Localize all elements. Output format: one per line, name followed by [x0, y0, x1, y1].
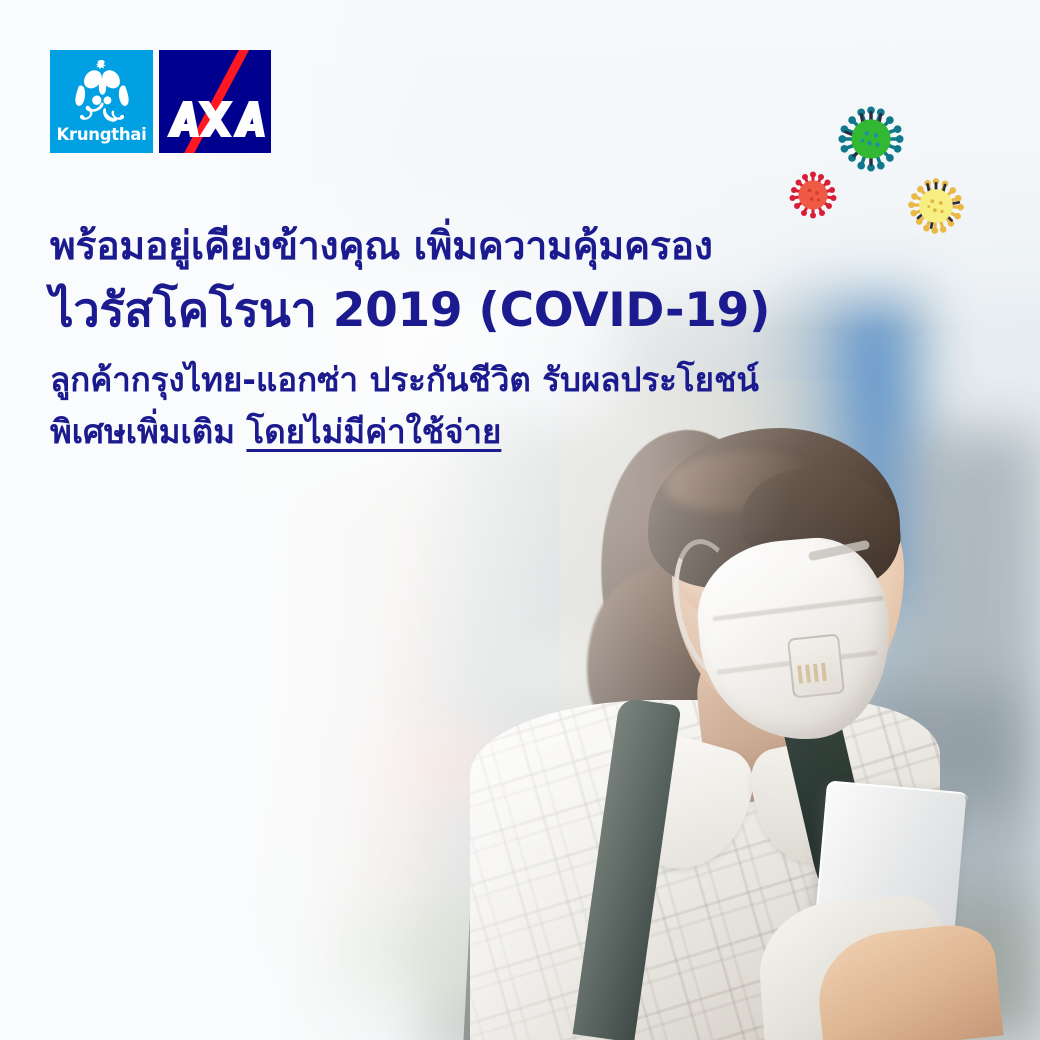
body-line-2-prefix: พิเศษเพิ่มเติม [50, 412, 246, 451]
banner-canvas: Krungthai [0, 0, 1040, 1040]
krungthai-logo[interactable]: Krungthai [50, 50, 153, 153]
virus-yellow-icon [906, 176, 966, 240]
axa-wordmark-icon [165, 97, 265, 147]
headline-line-1: พร้อมอยู่เคียงข้างคุณ เพิ่มความคุ้มครอง [50, 218, 810, 276]
axa-logo[interactable] [159, 50, 271, 153]
virus-green-icon [836, 104, 906, 178]
body-line-1: ลูกค้ากรุงไทย-แอกซ่า ประกันชีวิต รับผลปร… [50, 354, 810, 406]
logo-lockup: Krungthai [50, 50, 271, 153]
headline-line-2: ไวรัสโคโรนา 2019 (COVID-19) [50, 278, 810, 344]
krungthai-wordmark: Krungthai [50, 125, 153, 144]
headline-copy-block: พร้อมอยู่เคียงข้างคุณ เพิ่มความคุ้มครอง … [50, 218, 810, 458]
garuda-naga-mark-icon [64, 58, 140, 134]
body-line-2: พิเศษเพิ่มเติม โดยไม่มีค่าใช้จ่าย [50, 406, 810, 458]
virus-red-icon [788, 170, 838, 224]
white-gradient-left [0, 0, 430, 1040]
body-line-2-emphasis: โดยไม่มีค่าใช้จ่าย [246, 412, 501, 451]
